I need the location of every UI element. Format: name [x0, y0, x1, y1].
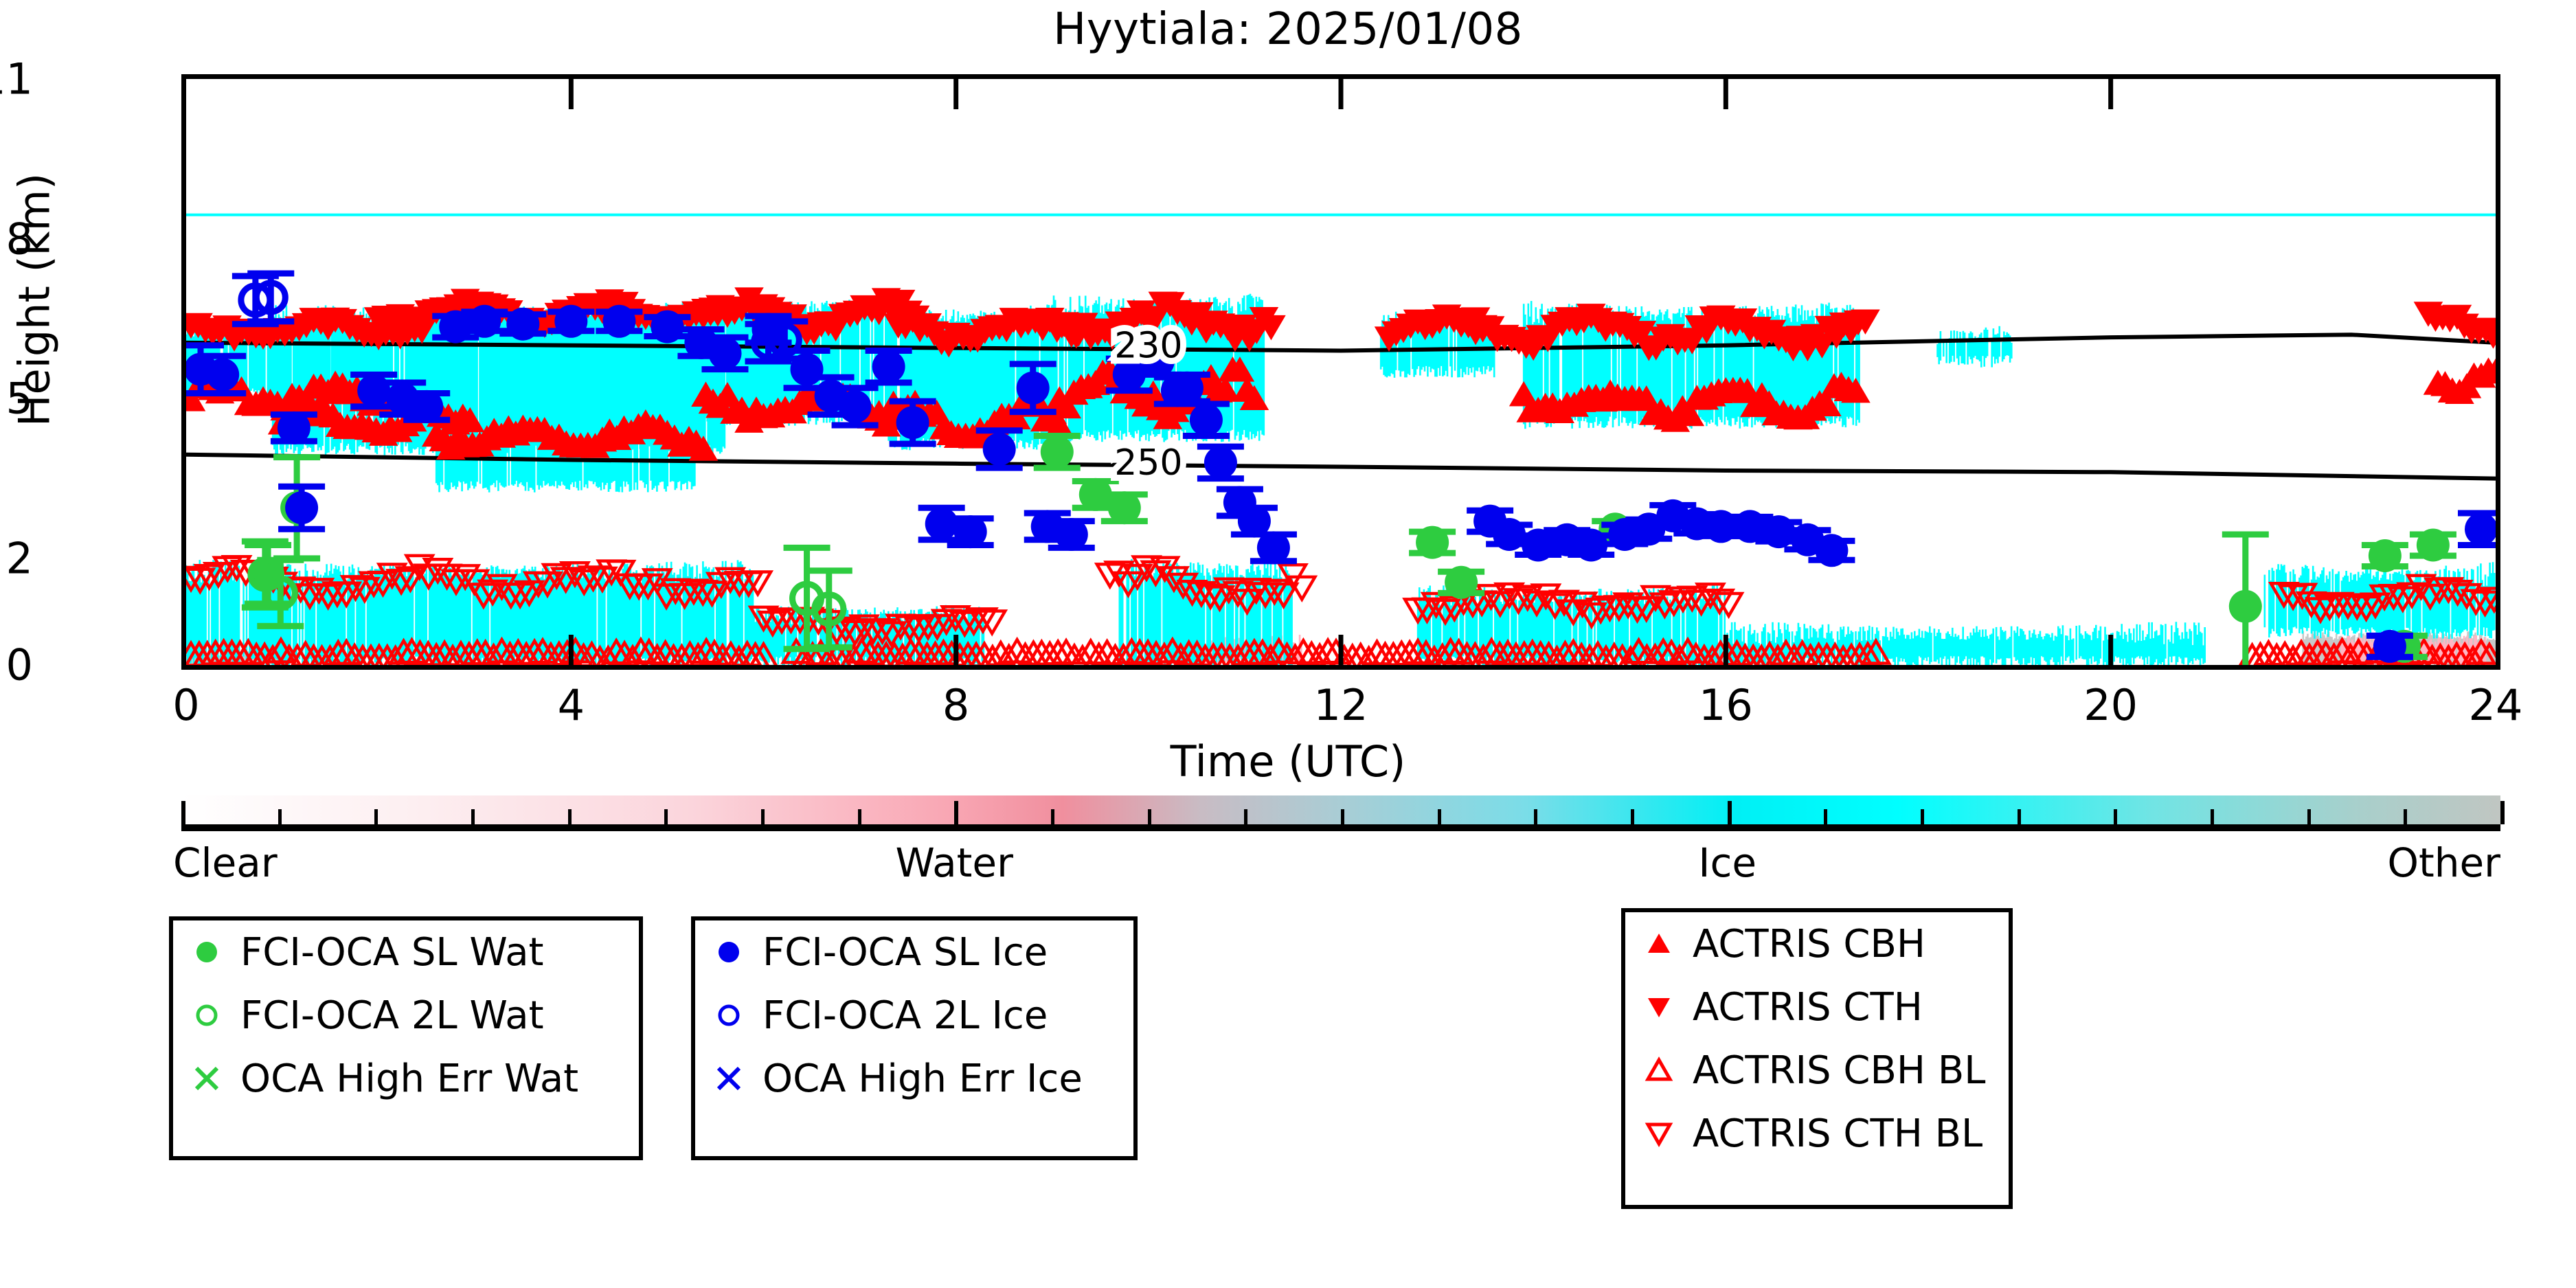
colorbar-tick [374, 809, 378, 824]
svg-text:250: 250 [1114, 442, 1182, 484]
open-circle-icon [710, 997, 747, 1034]
colorbar-tick [1921, 809, 1924, 824]
legend-actris-label: ACTRIS CTH [1693, 985, 1923, 1030]
legend-water-item-2[interactable]: OCA High Err Wat [173, 1047, 639, 1110]
colorbar-label-clear: Clear [173, 839, 278, 886]
legend-water-item-0[interactable]: FCI-OCA SL Wat [173, 920, 639, 984]
colorbar-tick [2018, 809, 2021, 824]
y-tick-label: 11 [0, 54, 33, 104]
colorbar-tick [664, 809, 668, 824]
legend-actris-item-1[interactable]: ACTRIS CTH [1625, 975, 2009, 1039]
legend-ice-item-0[interactable]: FCI-OCA SL Ice [695, 920, 1133, 984]
colorbar-label-ice: Ice [1698, 839, 1756, 886]
colorbar-tick [2114, 809, 2117, 824]
x-tick-label: 4 [502, 680, 640, 730]
colorbar-label-other: Other [2387, 839, 2500, 886]
x-tick-label: 24 [2427, 680, 2564, 730]
legend-water-label: FCI-OCA 2L Wat [240, 993, 544, 1038]
y-tick-label: 2 [0, 533, 33, 583]
colorbar-tick [1148, 809, 1151, 824]
colorbar-axis-line [181, 824, 2500, 831]
legend-ice-item-2[interactable]: OCA High Err Ice [695, 1047, 1133, 1110]
colorbar-tick [471, 809, 475, 824]
y-axis-label: Height (km) [10, 39, 60, 561]
colorbar-tick [2211, 809, 2214, 824]
page-title: Hyytiala: 2025/01/08 [0, 4, 2576, 55]
x-axis-label: Time (UTC) [0, 736, 2576, 787]
svg-text:230: 230 [1114, 326, 1182, 367]
colorbar-tick [2307, 809, 2311, 824]
legend-water-label: OCA High Err Wat [240, 1057, 578, 1101]
legend-water-label: FCI-OCA SL Wat [240, 930, 544, 975]
colorbar-tick [1244, 809, 1247, 824]
colorbar-tick [568, 809, 572, 824]
colorbar-tick [858, 809, 861, 824]
x-tick-label: 12 [1272, 680, 1410, 730]
colorbar-tick [278, 809, 282, 824]
colorbar-tick [1824, 809, 1827, 824]
legend-water: FCI-OCA SL Wat FCI-OCA 2L Wat OCA High E… [169, 916, 643, 1160]
legend-ice-label: FCI-OCA SL Ice [762, 930, 1048, 975]
colorbar-tick [1631, 809, 1634, 824]
y-tick-label: 5 [0, 374, 33, 424]
cross-icon [710, 1060, 747, 1097]
plot-canvas: 230230250250 [186, 79, 2496, 665]
x-tick-label: 20 [2042, 680, 2180, 730]
colorbar-tick [181, 801, 185, 824]
legend-actris-label: ACTRIS CBH BL [1693, 1048, 1985, 1093]
colorbar-tick [1341, 809, 1344, 824]
plot-area: 230230250250 [181, 74, 2500, 670]
x-tick-label: 16 [1657, 680, 1794, 730]
y-tick-label: 0 [0, 640, 33, 690]
legend-actris-label: ACTRIS CBH [1693, 922, 1925, 967]
colorbar-tick [1534, 809, 1537, 824]
legend-actris-label: ACTRIS CTH BL [1693, 1111, 1982, 1156]
open-up-triangle-icon [1640, 1052, 1677, 1089]
colorbar-tick [1728, 801, 1732, 824]
legend-ice-label: FCI-OCA 2L Ice [762, 993, 1048, 1038]
open-down-triangle-icon [1640, 1115, 1677, 1152]
colorbar [181, 795, 2500, 834]
legend-ice-label: OCA High Err Ice [762, 1057, 1083, 1101]
colorbar-tick [2404, 809, 2407, 824]
y-tick-label: 8 [0, 214, 33, 264]
legend-actris-item-3[interactable]: ACTRIS CTH BL [1625, 1102, 2009, 1165]
legend-actris-item-2[interactable]: ACTRIS CBH BL [1625, 1039, 2009, 1102]
filled-circle-icon [710, 934, 747, 971]
x-tick-label: 0 [117, 680, 255, 730]
legend-actris-item-0[interactable]: ACTRIS CBH [1625, 912, 2009, 975]
open-circle-icon [188, 997, 225, 1034]
colorbar-tick [1051, 809, 1054, 824]
legend-actris: ACTRIS CBH ACTRIS CTH ACTRIS CBH BL ACTR… [1621, 908, 2013, 1209]
colorbar-tick [954, 801, 958, 824]
colorbar-tick [1438, 809, 1441, 824]
legend-ice: FCI-OCA SL Ice FCI-OCA 2L Ice OCA High E… [691, 916, 1138, 1160]
x-tick-label: 8 [888, 680, 1025, 730]
filled-down-triangle-icon [1640, 988, 1677, 1026]
colorbar-label-water: Water [895, 839, 1013, 886]
legend-water-item-1[interactable]: FCI-OCA 2L Wat [173, 984, 639, 1047]
legend-ice-item-1[interactable]: FCI-OCA 2L Ice [695, 984, 1133, 1047]
filled-circle-icon [188, 934, 225, 971]
plot-clip: 230230250250 [186, 79, 2496, 665]
colorbar-tick [2500, 801, 2505, 824]
colorbar-tick [761, 809, 765, 824]
cross-icon [188, 1060, 225, 1097]
filled-up-triangle-icon [1640, 925, 1677, 962]
